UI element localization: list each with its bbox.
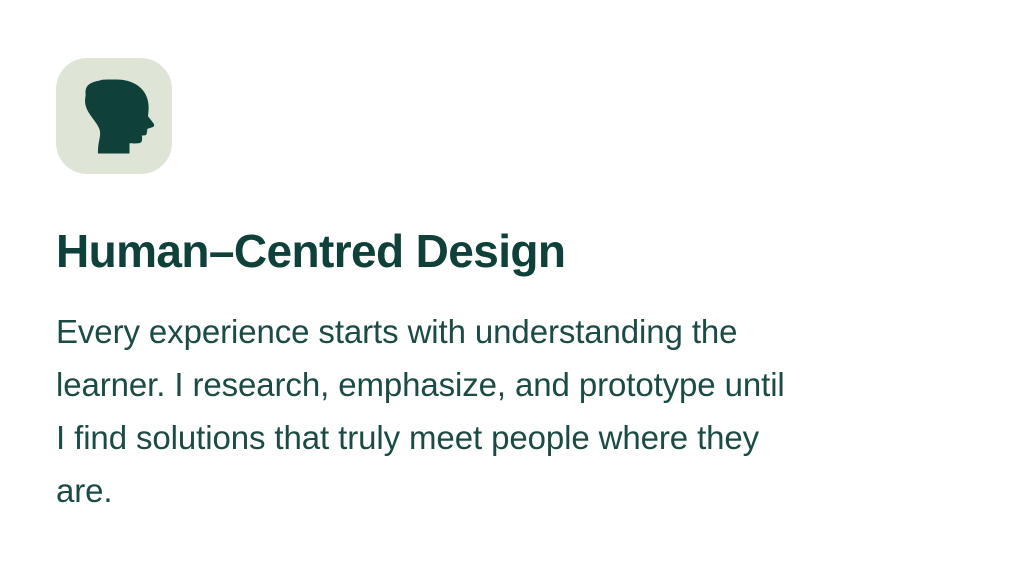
human-centred-design-card: Human–Centred Design Every experience st…: [0, 0, 1024, 576]
icon-tile: [56, 58, 172, 174]
body-line: Every experience starts with understandi…: [56, 305, 968, 358]
body-line: learner. I research, emphasize, and prot…: [56, 358, 968, 411]
body-line: are.: [56, 464, 968, 517]
body-line: I find solutions that truly meet people …: [56, 411, 968, 464]
body-description: Every experience starts with understandi…: [56, 305, 968, 517]
head-profile-icon: [56, 58, 172, 174]
page-title: Human–Centred Design: [56, 226, 565, 278]
